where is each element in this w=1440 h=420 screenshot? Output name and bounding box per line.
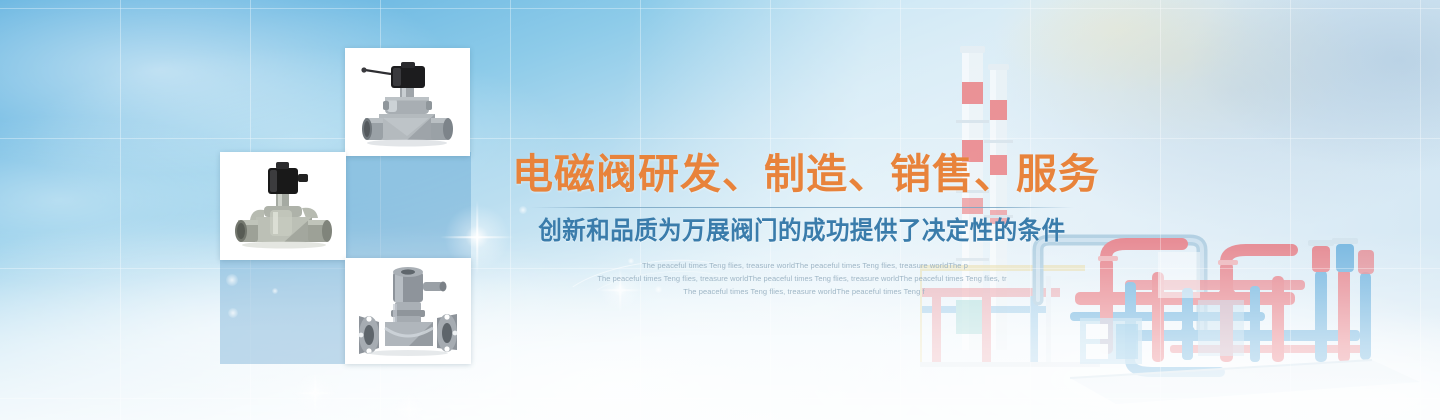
bokeh-dot [226, 274, 238, 286]
banner-headline: 电磁阀研发、制造、销售、服务 [512, 152, 1092, 198]
bokeh-dot [228, 308, 238, 318]
hero-banner: 电磁阀研发、制造、销售、服务 创新和品质为万展阀门的成功提供了决定性的条件 Th… [0, 0, 1440, 420]
blurb-line-3: The peaceful times Teng flies, treasure … [512, 285, 1092, 298]
solenoid-valve-threaded-image [345, 48, 470, 156]
banner-subheadline: 创新和品质为万展阀门的成功提供了决定性的条件 [529, 216, 1074, 246]
blurb-line-1: The peaceful times Teng flies, treasure … [512, 259, 1092, 272]
product-card-1[interactable] [345, 48, 470, 156]
headline-divider [530, 207, 1074, 208]
solenoid-valve-brass-image [220, 152, 346, 260]
product-card-3[interactable] [345, 258, 471, 364]
banner-copy: 电磁阀研发、制造、销售、服务 创新和品质为万展阀门的成功提供了决定性的条件 Th… [512, 152, 1092, 298]
accent-panel-middle [345, 152, 471, 260]
product-card-2[interactable] [220, 152, 346, 260]
accent-panel-lower [220, 260, 346, 364]
bokeh-dot [272, 288, 278, 294]
banner-blurb: The peaceful times Teng flies, treasure … [512, 259, 1092, 298]
blurb-line-2: The peaceful times Teng flies, treasure … [512, 272, 1092, 285]
solenoid-valve-flanged-image [345, 258, 471, 364]
